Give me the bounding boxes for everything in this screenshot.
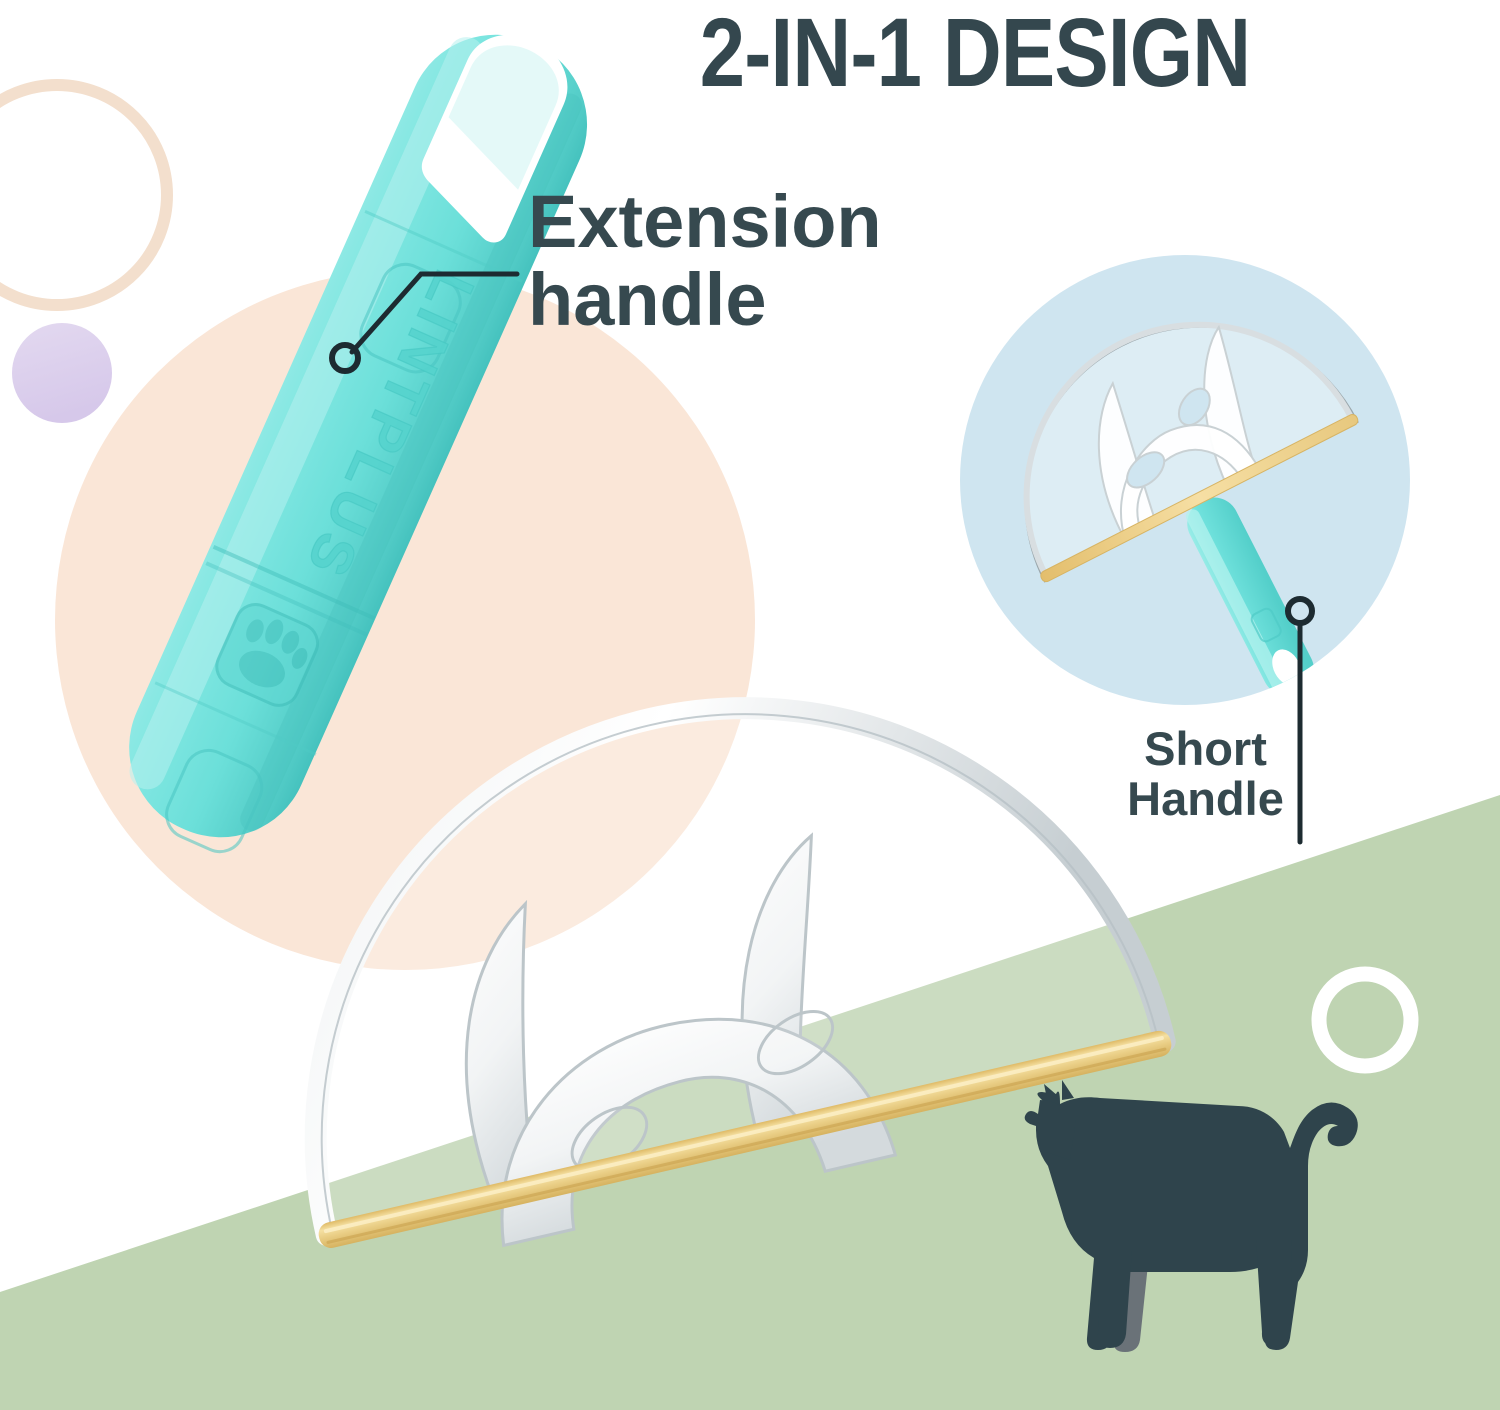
callout-extension-line2: handle	[528, 261, 1048, 339]
callout-extension-line1: Extension	[528, 180, 882, 263]
callout-short-line2: Handle	[1108, 774, 1303, 824]
callout-short-line1: Short	[1144, 722, 1267, 775]
callout-short-handle: Short Handle	[1108, 724, 1303, 824]
leader-extension-handle	[332, 274, 517, 371]
page-title: 2-IN-1 DESIGN	[551, 4, 1399, 101]
product-infographic: LINTPLUS	[0, 0, 1500, 1410]
callout-extension-handle: Extension handle	[528, 183, 1048, 340]
leader-marker-extension	[332, 345, 358, 371]
leader-marker-short	[1288, 599, 1312, 623]
